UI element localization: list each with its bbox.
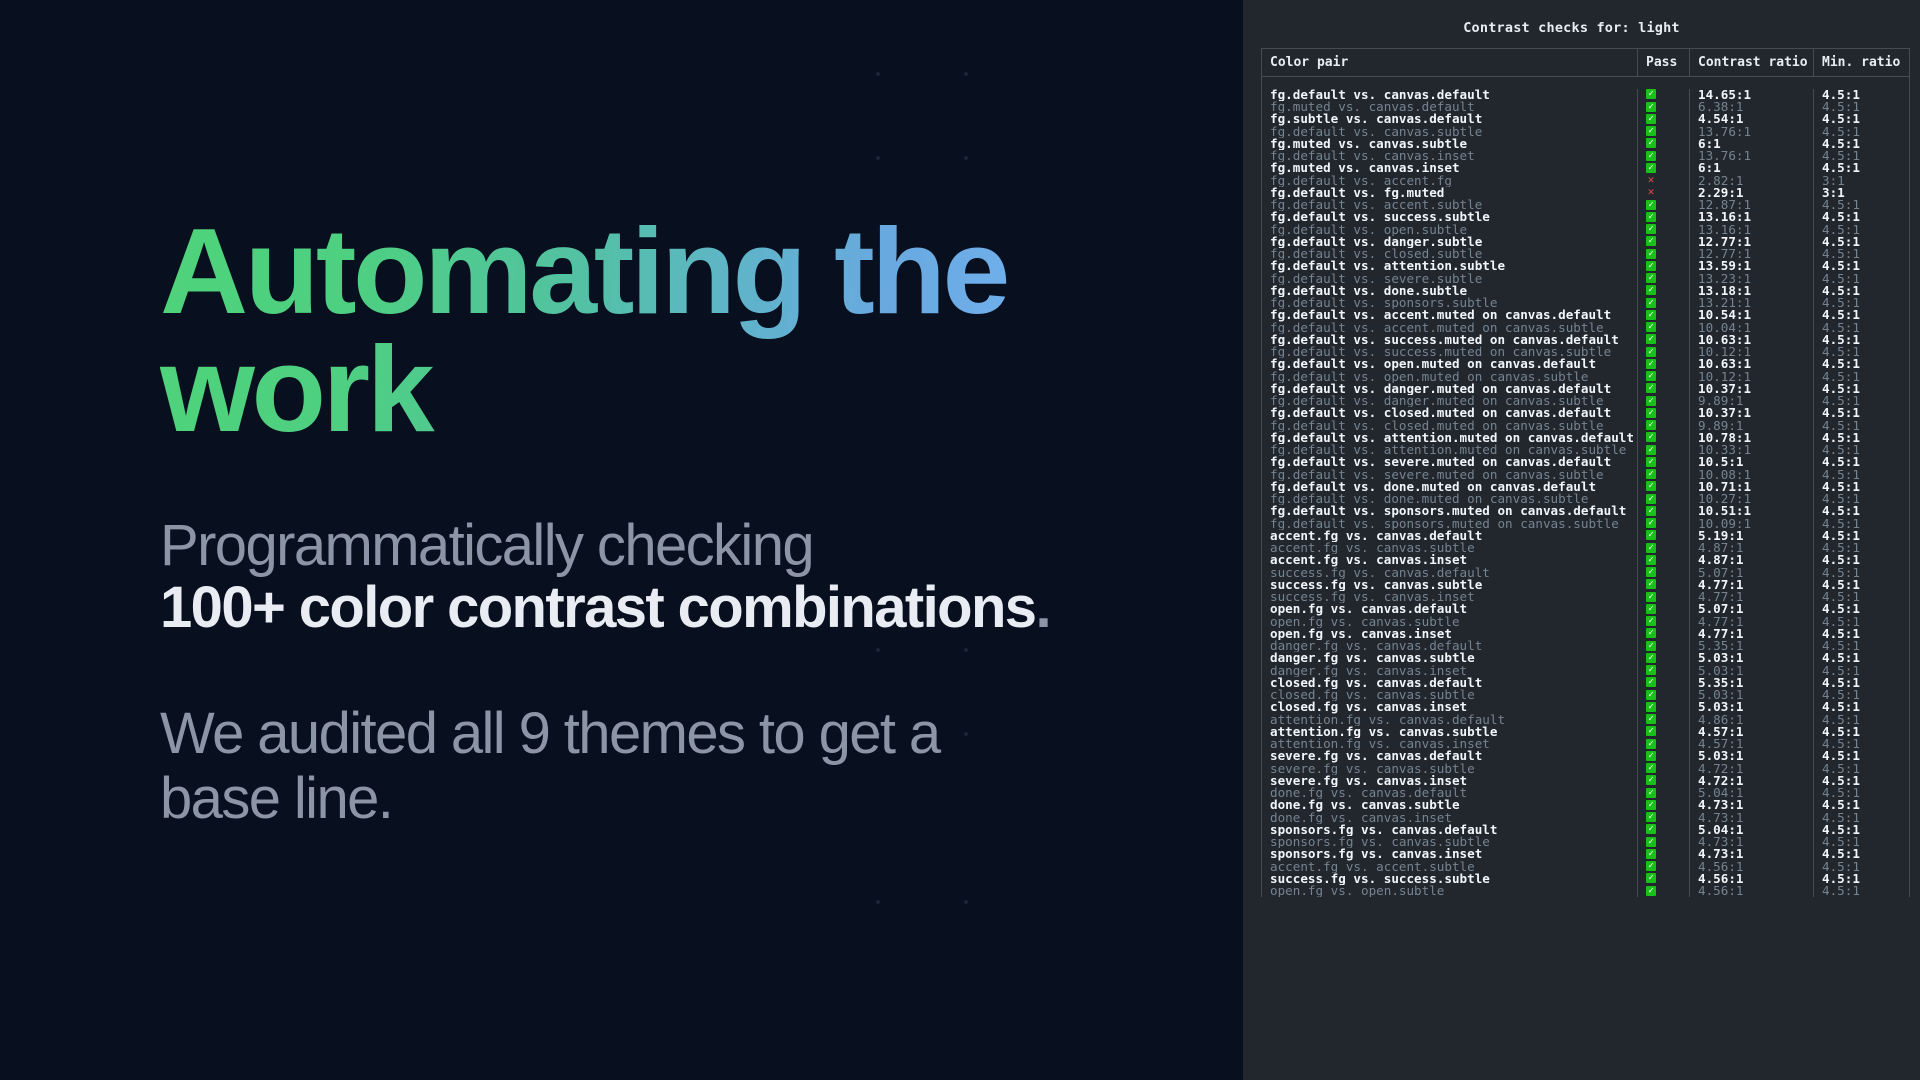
check-mark-icon: ✓ <box>1646 641 1656 651</box>
cell-color-pair: fg.default vs. closed.muted on canvas.su… <box>1262 420 1638 432</box>
cell-min-ratio: 4.5:1 <box>1814 603 1910 615</box>
cell-contrast-ratio: 4.87:1 <box>1690 542 1814 554</box>
table-row: fg.default vs. accent.fg✕2.82:13:1 <box>1262 175 1910 187</box>
cell-color-pair: done.fg vs. canvas.default <box>1262 787 1638 799</box>
cell-pass: ✓ <box>1638 701 1690 713</box>
cell-contrast-ratio: 10.12:1 <box>1690 346 1814 358</box>
check-mark-icon: ✓ <box>1646 506 1656 516</box>
cell-min-ratio: 4.5:1 <box>1814 726 1910 738</box>
cell-min-ratio: 4.5:1 <box>1814 763 1910 775</box>
cell-pass: ✓ <box>1638 861 1690 873</box>
table-row: fg.default vs. success.muted on canvas.d… <box>1262 334 1910 346</box>
cell-min-ratio: 4.5:1 <box>1814 297 1910 309</box>
table-row: fg.subtle vs. canvas.default✓4.54:14.5:1 <box>1262 113 1910 125</box>
table-row: fg.default vs. accent.subtle✓12.87:14.5:… <box>1262 199 1910 211</box>
cell-color-pair: attention.fg vs. canvas.inset <box>1262 738 1638 750</box>
cell-contrast-ratio: 10.63:1 <box>1690 334 1814 346</box>
cell-contrast-ratio: 10.27:1 <box>1690 493 1814 505</box>
cell-pass: ✓ <box>1638 113 1690 125</box>
cell-color-pair: fg.default vs. done.muted on canvas.defa… <box>1262 481 1638 493</box>
cell-pass: ✓ <box>1638 787 1690 799</box>
cell-pass: ✓ <box>1638 432 1690 444</box>
cell-min-ratio: 4.5:1 <box>1814 407 1910 419</box>
cell-color-pair: fg.muted vs. canvas.subtle <box>1262 138 1638 150</box>
cell-contrast-ratio: 5.04:1 <box>1690 787 1814 799</box>
cell-pass: ✕ <box>1638 187 1690 199</box>
table-row: fg.default vs. severe.muted on canvas.su… <box>1262 469 1910 481</box>
cell-color-pair: danger.fg vs. canvas.default <box>1262 640 1638 652</box>
table-row: fg.default vs. done.muted on canvas.subt… <box>1262 493 1910 505</box>
table-row: sponsors.fg vs. canvas.subtle✓4.73:14.5:… <box>1262 836 1910 848</box>
table-row: fg.default vs. canvas.inset✓13.76:14.5:1 <box>1262 150 1910 162</box>
cell-contrast-ratio: 5.03:1 <box>1690 750 1814 762</box>
cell-min-ratio: 4.5:1 <box>1814 628 1910 640</box>
cell-pass: ✓ <box>1638 358 1690 370</box>
cell-contrast-ratio: 5.03:1 <box>1690 701 1814 713</box>
check-mark-icon: ✓ <box>1646 89 1656 99</box>
contrast-report-panel: Contrast checks for: light Color pair Pa… <box>1243 0 1920 1080</box>
cell-color-pair: fg.default vs. danger.subtle <box>1262 236 1638 248</box>
cell-min-ratio: 4.5:1 <box>1814 224 1910 236</box>
cell-min-ratio: 4.5:1 <box>1814 211 1910 223</box>
cell-min-ratio: 4.5:1 <box>1814 775 1910 787</box>
subtitle-line-2: 100+ color contrast combinations. <box>160 577 1080 640</box>
cell-min-ratio: 4.5:1 <box>1814 236 1910 248</box>
table-header-row: Color pair Pass Contrast ratio Min. rati… <box>1262 49 1910 77</box>
cell-min-ratio: 4.5:1 <box>1814 89 1910 101</box>
cell-min-ratio: 4.5:1 <box>1814 346 1910 358</box>
check-mark-icon: ✓ <box>1646 285 1656 295</box>
table-row: success.fg vs. canvas.default✓5.07:14.5:… <box>1262 567 1910 579</box>
check-mark-icon: ✓ <box>1646 543 1656 553</box>
cell-color-pair: fg.default vs. canvas.inset <box>1262 150 1638 162</box>
cell-pass: ✓ <box>1638 420 1690 432</box>
table-row: fg.default vs. severe.subtle✓13.23:14.5:… <box>1262 273 1910 285</box>
column-header-color-pair: Color pair <box>1262 49 1638 77</box>
cell-contrast-ratio: 14.65:1 <box>1690 89 1814 101</box>
check-mark-icon: ✓ <box>1646 873 1656 883</box>
check-mark-icon: ✓ <box>1646 163 1656 173</box>
table-row: accent.fg vs. accent.subtle✓4.56:14.5:1 <box>1262 861 1910 873</box>
table-row: attention.fg vs. canvas.default✓4.86:14.… <box>1262 714 1910 726</box>
cell-min-ratio: 4.5:1 <box>1814 162 1910 174</box>
cell-min-ratio: 4.5:1 <box>1814 199 1910 211</box>
cell-min-ratio: 4.5:1 <box>1814 542 1910 554</box>
cell-min-ratio: 4.5:1 <box>1814 714 1910 726</box>
cell-min-ratio: 4.5:1 <box>1814 812 1910 824</box>
cell-min-ratio: 4.5:1 <box>1814 530 1910 542</box>
cell-pass: ✓ <box>1638 824 1690 836</box>
cell-contrast-ratio: 10.71:1 <box>1690 481 1814 493</box>
check-mark-icon: ✓ <box>1646 739 1656 749</box>
table-row: accent.fg vs. canvas.subtle✓4.87:14.5:1 <box>1262 542 1910 554</box>
cell-min-ratio: 4.5:1 <box>1814 273 1910 285</box>
cell-min-ratio: 4.5:1 <box>1814 567 1910 579</box>
cell-color-pair: fg.default vs. attention.muted on canvas… <box>1262 432 1638 444</box>
table-row: fg.muted vs. canvas.subtle✓6:14.5:1 <box>1262 138 1910 150</box>
cell-pass: ✓ <box>1638 665 1690 677</box>
cell-pass: ✓ <box>1638 309 1690 321</box>
table-row: open.fg vs. canvas.default✓5.07:14.5:1 <box>1262 603 1910 615</box>
cell-pass: ✓ <box>1638 714 1690 726</box>
cell-color-pair: done.fg vs. canvas.subtle <box>1262 799 1638 811</box>
check-mark-icon: ✓ <box>1646 481 1656 491</box>
table-row: danger.fg vs. canvas.inset✓5.03:14.5:1 <box>1262 665 1910 677</box>
table-row: fg.default vs. sponsors.subtle✓13.21:14.… <box>1262 297 1910 309</box>
check-mark-icon: ✓ <box>1646 494 1656 504</box>
cell-pass: ✓ <box>1638 848 1690 860</box>
cell-pass: ✓ <box>1638 738 1690 750</box>
check-mark-icon: ✓ <box>1646 579 1656 589</box>
cell-min-ratio: 4.5:1 <box>1814 799 1910 811</box>
cell-min-ratio: 4.5:1 <box>1814 420 1910 432</box>
cell-color-pair: severe.fg vs. canvas.default <box>1262 750 1638 762</box>
check-mark-icon: ✓ <box>1646 886 1656 896</box>
cell-contrast-ratio: 10.04:1 <box>1690 322 1814 334</box>
cell-color-pair: fg.default vs. accent.fg <box>1262 175 1638 187</box>
check-mark-icon: ✓ <box>1646 812 1656 822</box>
subtitle-line-1: Programmatically checking <box>160 515 1080 578</box>
check-mark-icon: ✓ <box>1646 677 1656 687</box>
table-row: fg.default vs. open.muted on canvas.subt… <box>1262 371 1910 383</box>
table-row: fg.default vs. severe.muted on canvas.de… <box>1262 456 1910 468</box>
cell-pass: ✓ <box>1638 199 1690 211</box>
cell-pass: ✓ <box>1638 652 1690 664</box>
table-row: fg.default vs. canvas.subtle✓13.76:14.5:… <box>1262 126 1910 138</box>
cell-contrast-ratio: 10.33:1 <box>1690 444 1814 456</box>
cell-color-pair: closed.fg vs. canvas.default <box>1262 677 1638 689</box>
cross-mark-icon: ✕ <box>1646 175 1656 185</box>
check-mark-icon: ✓ <box>1646 702 1656 712</box>
cell-pass: ✓ <box>1638 211 1690 223</box>
decorative-dot <box>876 156 880 160</box>
cell-pass: ✓ <box>1638 248 1690 260</box>
cell-color-pair: fg.default vs. severe.muted on canvas.de… <box>1262 456 1638 468</box>
cell-color-pair: done.fg vs. canvas.inset <box>1262 812 1638 824</box>
cell-contrast-ratio: 9.89:1 <box>1690 420 1814 432</box>
cell-contrast-ratio: 6:1 <box>1690 162 1814 174</box>
page-title: Automating the work <box>160 212 1080 449</box>
table-row: fg.default vs. fg.muted✕2.29:13:1 <box>1262 187 1910 199</box>
table-row: fg.default vs. open.subtle✓13.16:14.5:1 <box>1262 224 1910 236</box>
cell-contrast-ratio: 13.76:1 <box>1690 150 1814 162</box>
cell-contrast-ratio: 5.19:1 <box>1690 530 1814 542</box>
table-header: Color pair Pass Contrast ratio Min. rati… <box>1262 49 1910 77</box>
cell-min-ratio: 4.5:1 <box>1814 591 1910 603</box>
cell-min-ratio: 4.5:1 <box>1814 322 1910 334</box>
cell-contrast-ratio: 5.35:1 <box>1690 677 1814 689</box>
cell-contrast-ratio: 4.73:1 <box>1690 799 1814 811</box>
check-mark-icon: ✓ <box>1646 371 1656 381</box>
cell-color-pair: fg.default vs. attention.subtle <box>1262 260 1638 272</box>
cell-color-pair: danger.fg vs. canvas.inset <box>1262 665 1638 677</box>
table-row: fg.default vs. success.muted on canvas.s… <box>1262 346 1910 358</box>
check-mark-icon: ✓ <box>1646 359 1656 369</box>
table-row: done.fg vs. canvas.inset✓4.73:14.5:1 <box>1262 812 1910 824</box>
cell-contrast-ratio: 12.77:1 <box>1690 236 1814 248</box>
cell-pass: ✓ <box>1638 407 1690 419</box>
check-mark-icon: ✓ <box>1646 334 1656 344</box>
cell-color-pair: fg.default vs. done.muted on canvas.subt… <box>1262 493 1638 505</box>
cell-color-pair: fg.default vs. open.muted on canvas.defa… <box>1262 358 1638 370</box>
cell-pass: ✓ <box>1638 677 1690 689</box>
table-row: fg.default vs. attention.muted on canvas… <box>1262 432 1910 444</box>
cell-pass: ✓ <box>1638 542 1690 554</box>
table-row: fg.default vs. sponsors.muted on canvas.… <box>1262 505 1910 517</box>
check-mark-icon: ✓ <box>1646 800 1656 810</box>
cell-pass: ✓ <box>1638 493 1690 505</box>
table-row: closed.fg vs. canvas.inset✓5.03:14.5:1 <box>1262 701 1910 713</box>
cell-pass: ✓ <box>1638 224 1690 236</box>
cell-pass: ✓ <box>1638 285 1690 297</box>
cell-contrast-ratio: 5.04:1 <box>1690 824 1814 836</box>
cell-contrast-ratio: 10.08:1 <box>1690 469 1814 481</box>
check-mark-icon: ✓ <box>1646 788 1656 798</box>
cell-contrast-ratio: 10.78:1 <box>1690 432 1814 444</box>
cell-min-ratio: 4.5:1 <box>1814 383 1910 395</box>
cell-color-pair: open.fg vs. canvas.default <box>1262 603 1638 615</box>
cell-pass: ✕ <box>1638 175 1690 187</box>
cell-min-ratio: 4.5:1 <box>1814 285 1910 297</box>
slide-content: Automating the work Programmatically che… <box>160 212 1080 832</box>
cell-color-pair: fg.default vs. open.muted on canvas.subt… <box>1262 371 1638 383</box>
cell-contrast-ratio: 4.57:1 <box>1690 738 1814 750</box>
presentation-stage: Automating the work Programmatically che… <box>0 0 1920 1080</box>
table-row: success.fg vs. canvas.subtle✓4.77:14.5:1 <box>1262 579 1910 591</box>
table-row: fg.default vs. danger.subtle✓12.77:14.5:… <box>1262 236 1910 248</box>
cell-color-pair: fg.default vs. canvas.default <box>1262 89 1638 101</box>
cell-min-ratio: 4.5:1 <box>1814 469 1910 481</box>
cell-color-pair: sponsors.fg vs. canvas.subtle <box>1262 836 1638 848</box>
cell-contrast-ratio: 4.86:1 <box>1690 714 1814 726</box>
check-mark-icon: ✓ <box>1646 665 1656 675</box>
cell-contrast-ratio: 10.5:1 <box>1690 456 1814 468</box>
check-mark-icon: ✓ <box>1646 432 1656 442</box>
cell-contrast-ratio: 10.51:1 <box>1690 505 1814 517</box>
cell-pass: ✓ <box>1638 322 1690 334</box>
cell-pass: ✓ <box>1638 628 1690 640</box>
check-mark-icon: ✓ <box>1646 457 1656 467</box>
cell-pass: ✓ <box>1638 138 1690 150</box>
cell-contrast-ratio: 5.35:1 <box>1690 640 1814 652</box>
cell-color-pair: fg.default vs. accent.muted on canvas.su… <box>1262 322 1638 334</box>
cell-min-ratio: 3:1 <box>1814 175 1910 187</box>
cell-color-pair: fg.default vs. danger.muted on canvas.su… <box>1262 395 1638 407</box>
table-row: fg.default vs. closed.muted on canvas.de… <box>1262 407 1910 419</box>
cell-pass: ✓ <box>1638 836 1690 848</box>
check-mark-icon: ✓ <box>1646 555 1656 565</box>
cross-mark-icon: ✕ <box>1646 187 1656 197</box>
table-row: accent.fg vs. canvas.default✓5.19:14.5:1 <box>1262 530 1910 542</box>
cell-contrast-ratio: 10.37:1 <box>1690 407 1814 419</box>
cell-pass: ✓ <box>1638 689 1690 701</box>
cell-color-pair: sponsors.fg vs. canvas.inset <box>1262 848 1638 860</box>
cell-min-ratio: 4.5:1 <box>1814 677 1910 689</box>
column-header-contrast-ratio: Contrast ratio <box>1690 49 1814 77</box>
table-row: fg.default vs. success.subtle✓13.16:14.5… <box>1262 211 1910 223</box>
cell-contrast-ratio: 10.09:1 <box>1690 518 1814 530</box>
cell-contrast-ratio: 5.03:1 <box>1690 652 1814 664</box>
table-row: sponsors.fg vs. canvas.default✓5.04:14.5… <box>1262 824 1910 836</box>
check-mark-icon: ✓ <box>1646 445 1656 455</box>
cell-pass: ✓ <box>1638 873 1690 885</box>
table-row: fg.default vs. accent.muted on canvas.de… <box>1262 309 1910 321</box>
check-mark-icon: ✓ <box>1646 383 1656 393</box>
cell-color-pair: fg.default vs. open.subtle <box>1262 224 1638 236</box>
table-row: fg.muted vs. canvas.inset✓6:14.5:1 <box>1262 162 1910 174</box>
cell-color-pair: severe.fg vs. canvas.subtle <box>1262 763 1638 775</box>
cell-contrast-ratio: 13.18:1 <box>1690 285 1814 297</box>
check-mark-icon: ✓ <box>1646 212 1656 222</box>
cell-color-pair: fg.default vs. attention.muted on canvas… <box>1262 444 1638 456</box>
table-spacer-cell <box>1262 77 1910 89</box>
cell-min-ratio: 4.5:1 <box>1814 665 1910 677</box>
cell-contrast-ratio: 13.59:1 <box>1690 260 1814 272</box>
cell-color-pair: accent.fg vs. canvas.subtle <box>1262 542 1638 554</box>
check-mark-icon: ✓ <box>1646 396 1656 406</box>
cell-min-ratio: 4.5:1 <box>1814 126 1910 138</box>
cell-pass: ✓ <box>1638 603 1690 615</box>
cell-contrast-ratio: 6:1 <box>1690 138 1814 150</box>
contrast-checks-table: Color pair Pass Contrast ratio Min. rati… <box>1261 48 1910 897</box>
cell-color-pair: fg.default vs. sponsors.muted on canvas.… <box>1262 518 1638 530</box>
cell-min-ratio: 4.5:1 <box>1814 113 1910 125</box>
check-mark-icon: ✓ <box>1646 567 1656 577</box>
cell-color-pair: fg.default vs. canvas.subtle <box>1262 126 1638 138</box>
cell-pass: ✓ <box>1638 89 1690 101</box>
cell-min-ratio: 4.5:1 <box>1814 689 1910 701</box>
cell-contrast-ratio: 4.77:1 <box>1690 591 1814 603</box>
cell-min-ratio: 4.5:1 <box>1814 334 1910 346</box>
table-row: fg.muted vs. canvas.default✓6.38:14.5:1 <box>1262 101 1910 113</box>
cell-min-ratio: 4.5:1 <box>1814 885 1910 897</box>
cell-min-ratio: 4.5:1 <box>1814 260 1910 272</box>
cell-contrast-ratio: 10.12:1 <box>1690 371 1814 383</box>
cell-contrast-ratio: 13.16:1 <box>1690 224 1814 236</box>
table-body: fg.default vs. canvas.default✓14.65:14.5… <box>1262 77 1910 898</box>
cell-pass: ✓ <box>1638 799 1690 811</box>
table-row: fg.default vs. open.muted on canvas.defa… <box>1262 358 1910 370</box>
check-mark-icon: ✓ <box>1646 298 1656 308</box>
table-row: danger.fg vs. canvas.subtle✓5.03:14.5:1 <box>1262 652 1910 664</box>
cell-color-pair: success.fg vs. canvas.default <box>1262 567 1638 579</box>
table-spacer-row <box>1262 77 1910 89</box>
cell-color-pair: sponsors.fg vs. canvas.default <box>1262 824 1638 836</box>
cell-pass: ✓ <box>1638 383 1690 395</box>
cell-contrast-ratio: 2.29:1 <box>1690 187 1814 199</box>
check-mark-icon: ✓ <box>1646 249 1656 259</box>
cell-pass: ✓ <box>1638 726 1690 738</box>
cell-min-ratio: 4.5:1 <box>1814 101 1910 113</box>
table-row: fg.default vs. sponsors.muted on canvas.… <box>1262 518 1910 530</box>
cell-min-ratio: 4.5:1 <box>1814 848 1910 860</box>
cell-contrast-ratio: 4.54:1 <box>1690 113 1814 125</box>
cell-min-ratio: 4.5:1 <box>1814 861 1910 873</box>
table-row: open.fg vs. canvas.subtle✓4.77:14.5:1 <box>1262 616 1910 628</box>
cell-contrast-ratio: 10.54:1 <box>1690 309 1814 321</box>
cell-contrast-ratio: 4.73:1 <box>1690 848 1814 860</box>
check-mark-icon: ✓ <box>1646 714 1656 724</box>
cell-color-pair: fg.default vs. done.subtle <box>1262 285 1638 297</box>
cell-pass: ✓ <box>1638 567 1690 579</box>
table-row: success.fg vs. success.subtle✓4.56:14.5:… <box>1262 873 1910 885</box>
cell-min-ratio: 4.5:1 <box>1814 873 1910 885</box>
cell-pass: ✓ <box>1638 101 1690 113</box>
cell-pass: ✓ <box>1638 885 1690 897</box>
table-row: fg.default vs. done.muted on canvas.defa… <box>1262 481 1910 493</box>
subtitle-block: Programmatically checking 100+ color con… <box>160 515 1080 640</box>
cell-pass: ✓ <box>1638 763 1690 775</box>
table-row: fg.default vs. closed.subtle✓12.77:14.5:… <box>1262 248 1910 260</box>
cell-color-pair: accent.fg vs. canvas.inset <box>1262 554 1638 566</box>
cell-contrast-ratio: 12.87:1 <box>1690 199 1814 211</box>
table-row: severe.fg vs. canvas.default✓5.03:14.5:1 <box>1262 750 1910 762</box>
cell-color-pair: accent.fg vs. accent.subtle <box>1262 861 1638 873</box>
cell-pass: ✓ <box>1638 346 1690 358</box>
cell-pass: ✓ <box>1638 444 1690 456</box>
table-row: done.fg vs. canvas.default✓5.04:14.5:1 <box>1262 787 1910 799</box>
cell-color-pair: success.fg vs. canvas.inset <box>1262 591 1638 603</box>
check-mark-icon: ✓ <box>1646 861 1656 871</box>
cell-color-pair: open.fg vs. open.subtle <box>1262 885 1638 897</box>
cell-contrast-ratio: 4.57:1 <box>1690 726 1814 738</box>
table-row: fg.default vs. done.subtle✓13.18:14.5:1 <box>1262 285 1910 297</box>
cell-min-ratio: 4.5:1 <box>1814 824 1910 836</box>
cell-contrast-ratio: 13.16:1 <box>1690 211 1814 223</box>
check-mark-icon: ✓ <box>1646 200 1656 210</box>
decorative-dot <box>876 900 880 904</box>
decorative-dot <box>876 72 880 76</box>
decorative-dot <box>964 156 968 160</box>
cell-pass: ✓ <box>1638 616 1690 628</box>
cell-pass: ✓ <box>1638 273 1690 285</box>
cell-contrast-ratio: 4.77:1 <box>1690 628 1814 640</box>
check-mark-icon: ✓ <box>1646 775 1656 785</box>
check-mark-icon: ✓ <box>1646 824 1656 834</box>
slide-paragraph: We audited all 9 themes to get a base li… <box>160 702 1040 832</box>
cell-min-ratio: 3:1 <box>1814 187 1910 199</box>
check-mark-icon: ✓ <box>1646 653 1656 663</box>
cell-min-ratio: 4.5:1 <box>1814 138 1910 150</box>
check-mark-icon: ✓ <box>1646 726 1656 736</box>
column-header-pass: Pass <box>1638 49 1690 77</box>
cell-pass: ✓ <box>1638 395 1690 407</box>
cell-color-pair: attention.fg vs. canvas.default <box>1262 714 1638 726</box>
table-row: fg.default vs. danger.muted on canvas.su… <box>1262 395 1910 407</box>
check-mark-icon: ✓ <box>1646 408 1656 418</box>
cell-contrast-ratio: 4.77:1 <box>1690 616 1814 628</box>
cell-contrast-ratio: 13.23:1 <box>1690 273 1814 285</box>
cell-contrast-ratio: 4.56:1 <box>1690 861 1814 873</box>
check-mark-icon: ✓ <box>1646 592 1656 602</box>
cell-contrast-ratio: 4.73:1 <box>1690 812 1814 824</box>
cell-pass: ✓ <box>1638 812 1690 824</box>
cell-pass: ✓ <box>1638 260 1690 272</box>
check-mark-icon: ✓ <box>1646 628 1656 638</box>
check-mark-icon: ✓ <box>1646 837 1656 847</box>
cell-pass: ✓ <box>1638 775 1690 787</box>
cell-min-ratio: 4.5:1 <box>1814 652 1910 664</box>
cell-min-ratio: 4.5:1 <box>1814 444 1910 456</box>
check-mark-icon: ✓ <box>1646 530 1656 540</box>
table-row: closed.fg vs. canvas.subtle✓5.03:14.5:1 <box>1262 689 1910 701</box>
table-row: severe.fg vs. canvas.inset✓4.72:14.5:1 <box>1262 775 1910 787</box>
check-mark-icon: ✓ <box>1646 849 1656 859</box>
cell-color-pair: success.fg vs. canvas.subtle <box>1262 579 1638 591</box>
cell-contrast-ratio: 5.07:1 <box>1690 567 1814 579</box>
table-row: severe.fg vs. canvas.subtle✓4.72:14.5:1 <box>1262 763 1910 775</box>
table-row: fg.default vs. closed.muted on canvas.su… <box>1262 420 1910 432</box>
